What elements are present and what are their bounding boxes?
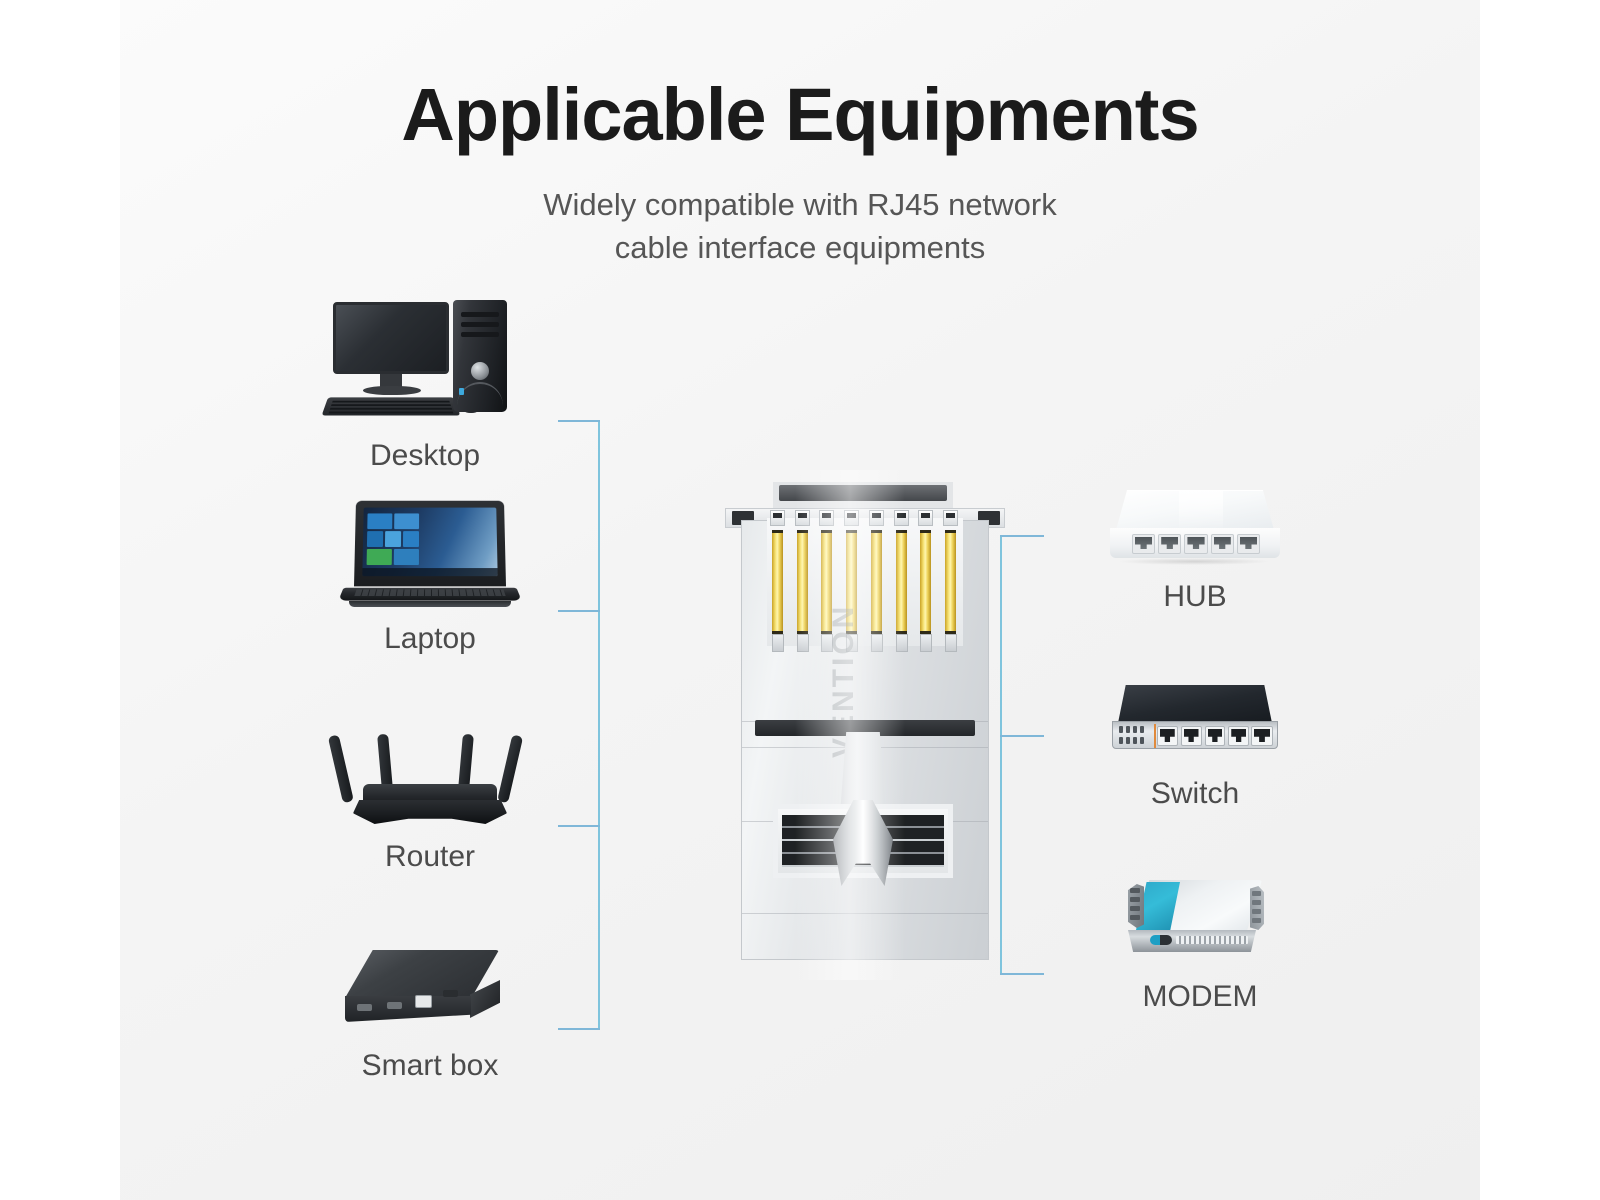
header: Applicable Equipments Widely compatible … bbox=[120, 0, 1480, 270]
desktop-computer-icon bbox=[325, 300, 525, 425]
rj45-connector-illustration: VENTION bbox=[715, 470, 1015, 980]
right-bracket-stub-switch bbox=[1000, 735, 1044, 737]
wifi-router-icon bbox=[335, 715, 525, 830]
router-antenna-1 bbox=[328, 735, 354, 804]
switch-port-2 bbox=[1181, 726, 1202, 746]
pc-tower-icon bbox=[453, 300, 507, 412]
equipment-label-hub: HUB bbox=[1070, 580, 1320, 613]
left-bracket-stub-smartbox bbox=[558, 1028, 600, 1030]
equipment-label-laptop: Laptop bbox=[305, 622, 555, 655]
router-antenna-4 bbox=[497, 735, 523, 804]
left-bracket-stub-desktop bbox=[558, 420, 600, 422]
left-bracket-spine bbox=[598, 420, 600, 1030]
hub-rj45-ports bbox=[1132, 534, 1260, 554]
router-body bbox=[353, 800, 507, 824]
equipment-label-switch: Switch bbox=[1070, 777, 1320, 810]
switch-port-1 bbox=[1157, 726, 1178, 746]
equipment-item-smart-box[interactable]: Smart box bbox=[305, 940, 555, 1082]
laptop-keyboard-base bbox=[338, 588, 521, 601]
hub-port-5 bbox=[1237, 534, 1260, 554]
modem-front-vents bbox=[1176, 936, 1248, 944]
modem-front-panel bbox=[1128, 930, 1256, 952]
rj45-top-cap bbox=[779, 485, 947, 501]
page-subtitle: Widely compatible with RJ45 network cabl… bbox=[120, 184, 1480, 270]
modem-right-vents bbox=[1250, 886, 1264, 930]
rj45-gold-pins bbox=[771, 522, 959, 646]
equipment-item-switch[interactable]: Switch bbox=[1070, 685, 1320, 810]
smart-box-slot-2 bbox=[387, 1002, 402, 1009]
switch-front-panel bbox=[1112, 721, 1278, 749]
right-bracket-spine bbox=[1000, 535, 1002, 975]
equipment-label-smart-box: Smart box bbox=[305, 1049, 555, 1082]
switch-rj45-ports bbox=[1157, 726, 1249, 746]
monitor-stand-base bbox=[363, 386, 421, 395]
network-switch-icon bbox=[1110, 685, 1280, 761]
smart-box-rj45-port bbox=[415, 995, 432, 1008]
hub-top-shell bbox=[1116, 490, 1274, 530]
infographic-canvas: Applicable Equipments Widely compatible … bbox=[120, 0, 1480, 1200]
laptop-taskbar bbox=[362, 568, 497, 576]
hub-port-4 bbox=[1211, 534, 1234, 554]
modem-indicator-badge bbox=[1150, 935, 1172, 945]
equipment-item-laptop[interactable]: Laptop bbox=[305, 500, 555, 655]
left-bracket-stub-router bbox=[558, 825, 600, 827]
switch-port-3 bbox=[1205, 726, 1226, 746]
rj45-pin-6 bbox=[895, 522, 910, 646]
tower-led bbox=[459, 388, 464, 395]
rj45-pin-2 bbox=[796, 522, 811, 646]
smart-box-power-jack bbox=[443, 990, 458, 997]
right-bracket-stub-modem bbox=[1000, 973, 1044, 975]
laptop-front-edge bbox=[349, 601, 511, 607]
right-bracket-stub-hub bbox=[1000, 535, 1044, 537]
hub-port-1 bbox=[1132, 534, 1155, 554]
hub-port-2 bbox=[1158, 534, 1181, 554]
switch-port-4 bbox=[1228, 726, 1249, 746]
windows-start-tiles bbox=[366, 513, 421, 571]
modem-icon bbox=[1120, 880, 1280, 964]
laptop-icon bbox=[335, 500, 525, 610]
monitor-screen bbox=[333, 302, 449, 374]
smart-tv-box-icon bbox=[335, 940, 525, 1035]
rj45-pin-8 bbox=[944, 522, 959, 646]
rj45-pin-1 bbox=[771, 522, 786, 646]
equipment-item-router[interactable]: Router bbox=[305, 715, 555, 873]
left-bracket-stub-laptop bbox=[558, 610, 600, 612]
right-connector-bracket bbox=[1000, 535, 1060, 975]
page-title: Applicable Equipments bbox=[120, 78, 1480, 152]
laptop-screen bbox=[362, 508, 497, 577]
switch-uplink-port bbox=[1251, 726, 1273, 746]
left-connector-bracket bbox=[540, 420, 600, 1030]
switch-led-indicators bbox=[1119, 726, 1153, 746]
smart-box-top bbox=[345, 950, 499, 998]
laptop-lid bbox=[354, 501, 506, 587]
equipment-item-desktop[interactable]: Desktop bbox=[300, 300, 550, 472]
rj45-pin-7 bbox=[919, 522, 934, 646]
equipment-item-modem[interactable]: MODEM bbox=[1075, 880, 1325, 1013]
keyboard-icon bbox=[322, 397, 461, 415]
hub-shadow bbox=[1118, 558, 1272, 565]
hub-port-3 bbox=[1184, 534, 1207, 554]
tower-power-button bbox=[471, 362, 489, 380]
equipment-label-router: Router bbox=[305, 840, 555, 873]
modem-left-vents bbox=[1128, 884, 1144, 928]
subtitle-line-1: Widely compatible with RJ45 network bbox=[120, 184, 1480, 227]
rj45-pin-5 bbox=[870, 522, 885, 646]
switch-top-shell bbox=[1118, 685, 1272, 723]
smart-box-slot-1 bbox=[357, 1004, 372, 1011]
equipment-label-desktop: Desktop bbox=[300, 439, 550, 472]
subtitle-line-2: cable interface equipments bbox=[120, 227, 1480, 270]
network-hub-icon bbox=[1110, 490, 1280, 566]
switch-divider bbox=[1154, 724, 1156, 748]
equipment-item-hub[interactable]: HUB bbox=[1070, 490, 1320, 613]
equipment-label-modem: MODEM bbox=[1075, 980, 1325, 1013]
